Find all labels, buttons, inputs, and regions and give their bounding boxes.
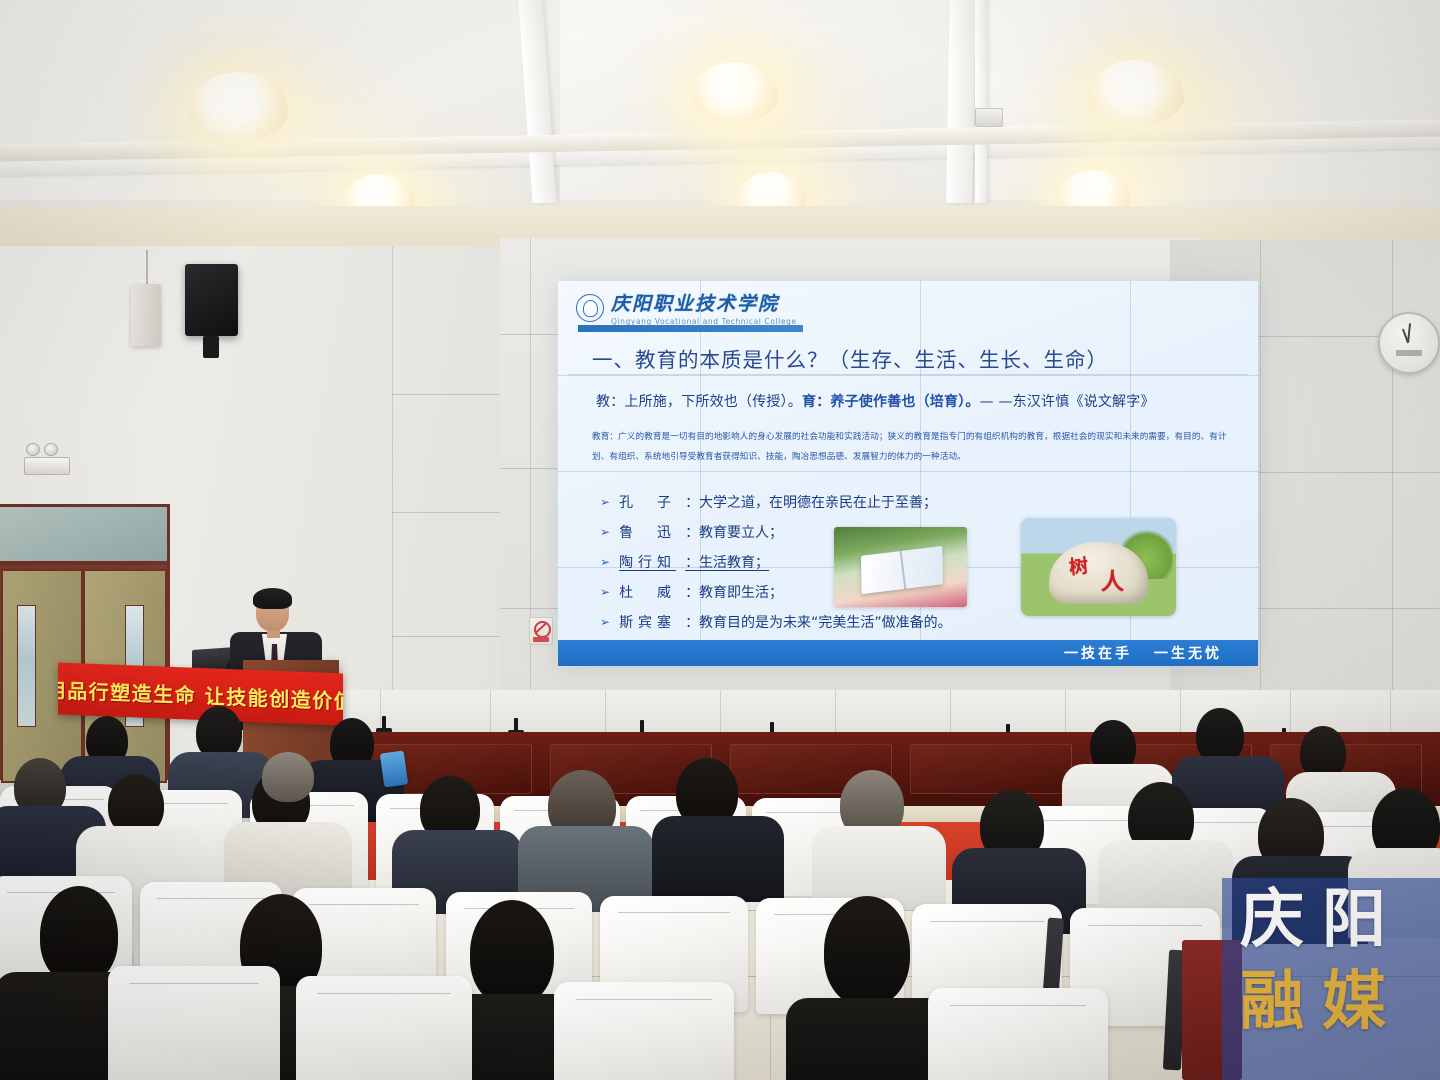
ceiling-sensor-icon — [975, 108, 1003, 127]
bullet-arrow-icon: ➢ — [600, 585, 610, 599]
slide-image-book — [834, 527, 967, 607]
footer-right-text: 一生无忧 — [1154, 643, 1222, 663]
bullet-text: ：教育即生活； — [685, 582, 783, 602]
slide-definition-line: 教：上所施，下所效也（传授）。育：养子使作善也（培育）。— —东汉许慎《说文解字… — [596, 391, 1155, 411]
bullet-text: ：生活教育； — [685, 552, 769, 572]
bullet-text: ：教育要立人； — [685, 522, 783, 542]
bullet-arrow-icon: ➢ — [600, 615, 610, 629]
hall-door[interactable] — [0, 504, 170, 780]
emergency-light — [24, 457, 70, 475]
watermark-text-top: 庆阳 — [1240, 888, 1404, 952]
audience-shoulders — [652, 816, 784, 902]
bullet-arrow-icon: ➢ — [600, 525, 610, 539]
bullet-name: 鲁 迅 — [619, 522, 676, 542]
college-emblem-icon — [576, 294, 604, 322]
bullet-arrow-icon: ➢ — [600, 555, 610, 569]
column-speaker — [131, 284, 161, 346]
speaker-hanger — [146, 250, 148, 284]
definition-source: — —东汉许慎《说文解字》 — [980, 394, 1155, 410]
audience-chair — [108, 966, 280, 1080]
bullet-name: 陶行知 — [619, 552, 676, 572]
bullet-text: ：教育目的是为未来“完美生活”做准备的。 — [685, 612, 952, 632]
audience-phone[interactable] — [380, 750, 408, 787]
footer-left-text: 一技在手 — [1064, 643, 1132, 663]
list-item: ➢ 斯宾塞 ：教育目的是为未来“完美生活”做准备的。 — [600, 607, 952, 637]
broadcaster-watermark: 庆阳 融媒 — [1222, 878, 1440, 1080]
slide-footer-bar: 一技在手 一生无忧 — [558, 640, 1258, 666]
lecture-hall-photo: 庆阳职业技术学院 Qingyang Vocational and Technic… — [0, 0, 1440, 1080]
door-glass-panel — [17, 605, 36, 727]
speaker-bracket — [203, 336, 219, 358]
bullet-name: 孔 子 — [619, 492, 676, 512]
bullet-text: ：大学之道，在明德在亲民在止于至善； — [685, 492, 937, 512]
audience-head — [824, 896, 910, 1006]
audience-head — [40, 886, 118, 984]
definition-prefix: 教：上所施，下所效也（传授）。 — [596, 394, 802, 410]
event-banner-text: 用品行塑造生命 让技能创造价值 — [58, 674, 343, 715]
table-microphone — [382, 716, 386, 729]
college-name-cn: 庆阳职业技术学院 — [611, 289, 797, 316]
title-underline — [568, 374, 1248, 375]
presentation-screen: 庆阳职业技术学院 Qingyang Vocational and Technic… — [558, 281, 1258, 666]
audience-chair — [296, 976, 472, 1080]
rock-character-shu: 树 — [1068, 551, 1090, 580]
rock-character-ren: 人 — [1101, 562, 1124, 596]
bullet-arrow-icon: ➢ — [600, 495, 610, 509]
bullet-name: 杜 威 — [619, 582, 676, 602]
bullet-name: 斯宾塞 — [619, 612, 676, 632]
slide-institution-logo: 庆阳职业技术学院 Qingyang Vocational and Technic… — [576, 289, 797, 326]
audience-head — [470, 900, 554, 1006]
wall-speaker — [185, 264, 238, 336]
stage-backwall — [330, 690, 1440, 734]
door-transom-glass — [0, 507, 167, 565]
audience-head — [262, 752, 314, 802]
ceiling-light — [692, 62, 778, 122]
slide-image-rock: 树 人 — [1021, 518, 1176, 616]
emergency-lamp-icon — [44, 443, 58, 456]
wall-clock — [1378, 312, 1440, 374]
slide-paragraph: 教育：广义的教育是一切有目的地影响人的身心发展的社会功能和实践活动；狭义的教育是… — [592, 427, 1227, 467]
logo-rule — [578, 325, 803, 332]
emergency-lamp-icon — [26, 443, 40, 456]
watermark-text-bottom: 融媒 — [1240, 970, 1404, 1034]
definition-bold: 育：养子使作善也（培育）。 — [802, 394, 980, 410]
list-item: ➢ 孔 子 ：大学之道，在明德在亲民在止于至善； — [600, 487, 952, 517]
no-smoking-icon — [529, 617, 553, 645]
audience-chair — [554, 982, 734, 1080]
audience-chair — [928, 988, 1108, 1080]
presenter-hair — [253, 588, 292, 609]
slide-title: 一、教育的本质是什么？（生存、生活、生长、生命） — [592, 343, 1108, 373]
table-microphone — [514, 718, 518, 731]
